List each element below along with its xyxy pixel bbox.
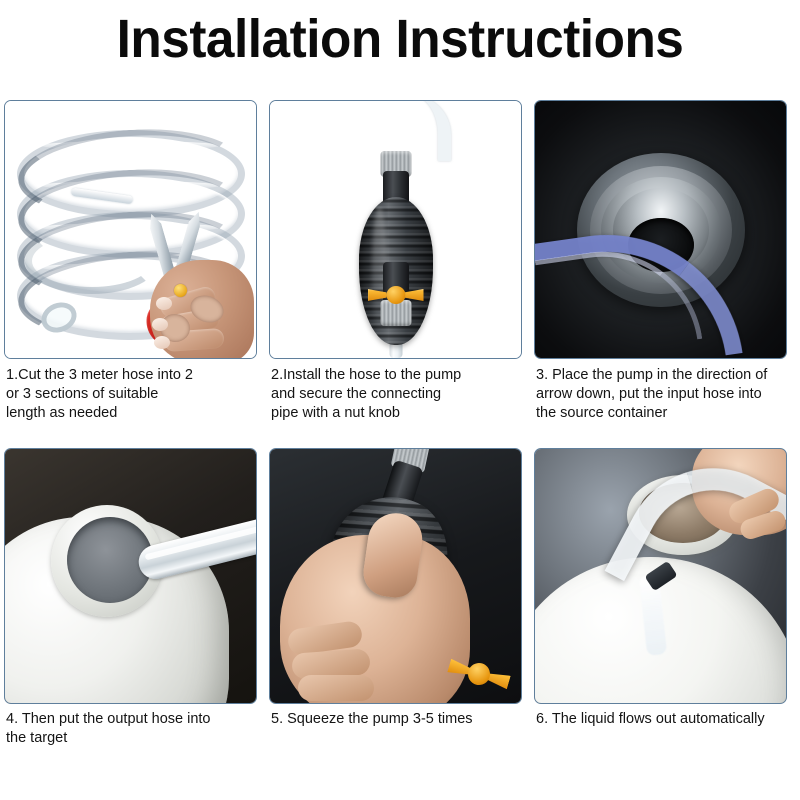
step-6-photo-frame[interactable] xyxy=(534,448,787,704)
steps-grid: 1.Cut the 3 meter hose into 2 or 3 secti… xyxy=(4,100,796,796)
finger xyxy=(298,675,374,701)
coiled-hose-with-scissors-photo xyxy=(5,101,256,358)
valve-wing xyxy=(368,289,387,301)
step-3-photo-frame[interactable] xyxy=(534,100,787,359)
step-3-caption: 3. Place the pump in the direction of ar… xyxy=(536,366,794,423)
step-1-caption: 1.Cut the 3 meter hose into 2 or 3 secti… xyxy=(6,366,264,423)
fuel-filler-neck-photo xyxy=(535,101,786,358)
page-title: Installation Instructions xyxy=(20,8,780,70)
step-2-caption: 2.Install the hose to the pump and secur… xyxy=(271,366,529,423)
scissor-pivot-screw xyxy=(174,284,187,297)
fingernail xyxy=(154,336,170,349)
output-hose-in-jug-photo xyxy=(5,449,256,703)
fingernail xyxy=(152,318,168,331)
liquid-pouring-photo xyxy=(535,449,786,703)
step-cell-6: 6. The liquid flows out automatically xyxy=(534,448,796,796)
valve-hub xyxy=(465,660,492,687)
red-scissors xyxy=(134,210,250,358)
step-cell-1: 1.Cut the 3 meter hose into 2 or 3 secti… xyxy=(4,100,266,448)
step-1-photo-frame[interactable] xyxy=(4,100,257,359)
hand-squeezing-pump-photo xyxy=(270,449,521,703)
step-cell-2: 2.Install the hose to the pump and secur… xyxy=(269,100,531,448)
step-4-caption: 4. Then put the output hose into the tar… xyxy=(6,710,264,748)
pump-with-hose-photo xyxy=(270,101,521,358)
step-5-caption: 5. Squeeze the pump 3-5 times xyxy=(271,710,529,729)
instruction-sheet: Installation Instructions xyxy=(0,0,800,800)
step-2-photo-frame[interactable] xyxy=(269,100,522,359)
valve-wing xyxy=(405,289,424,301)
step-6-caption: 6. The liquid flows out automatically xyxy=(536,710,794,729)
step-cell-4: 4. Then put the output hose into the tar… xyxy=(4,448,266,796)
step-4-photo-frame[interactable] xyxy=(4,448,257,704)
fingernail xyxy=(156,297,172,310)
step-cell-5: 5. Squeeze the pump 3-5 times xyxy=(269,448,531,796)
valve-hub xyxy=(386,286,405,304)
step-cell-3: 3. Place the pump in the direction of ar… xyxy=(534,100,796,448)
orange-valve-knob xyxy=(368,286,424,304)
step-5-photo-frame[interactable] xyxy=(269,448,522,704)
